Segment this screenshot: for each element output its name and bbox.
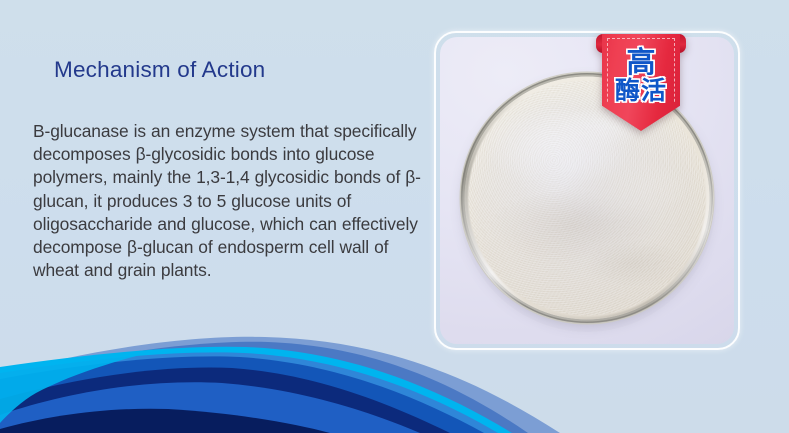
body-paragraph: B-glucanase is an enzyme system that spe… <box>33 120 429 282</box>
slide-canvas: Mechanism of Action B-glucanase is an en… <box>0 0 789 433</box>
ribbon-label-line1: 高 <box>626 48 655 77</box>
decorative-wave-graphic <box>0 323 789 433</box>
ribbon-label: 高 酶活 <box>602 34 680 116</box>
product-photo <box>440 37 734 344</box>
high-enzyme-activity-ribbon-badge: 高 酶活 <box>596 28 686 132</box>
product-photo-card <box>434 31 740 350</box>
ribbon-label-line2: 酶活 <box>615 78 667 103</box>
wave-svg <box>0 323 789 433</box>
text-column: Mechanism of Action B-glucanase is an en… <box>0 0 432 330</box>
page-title: Mechanism of Action <box>54 55 265 85</box>
